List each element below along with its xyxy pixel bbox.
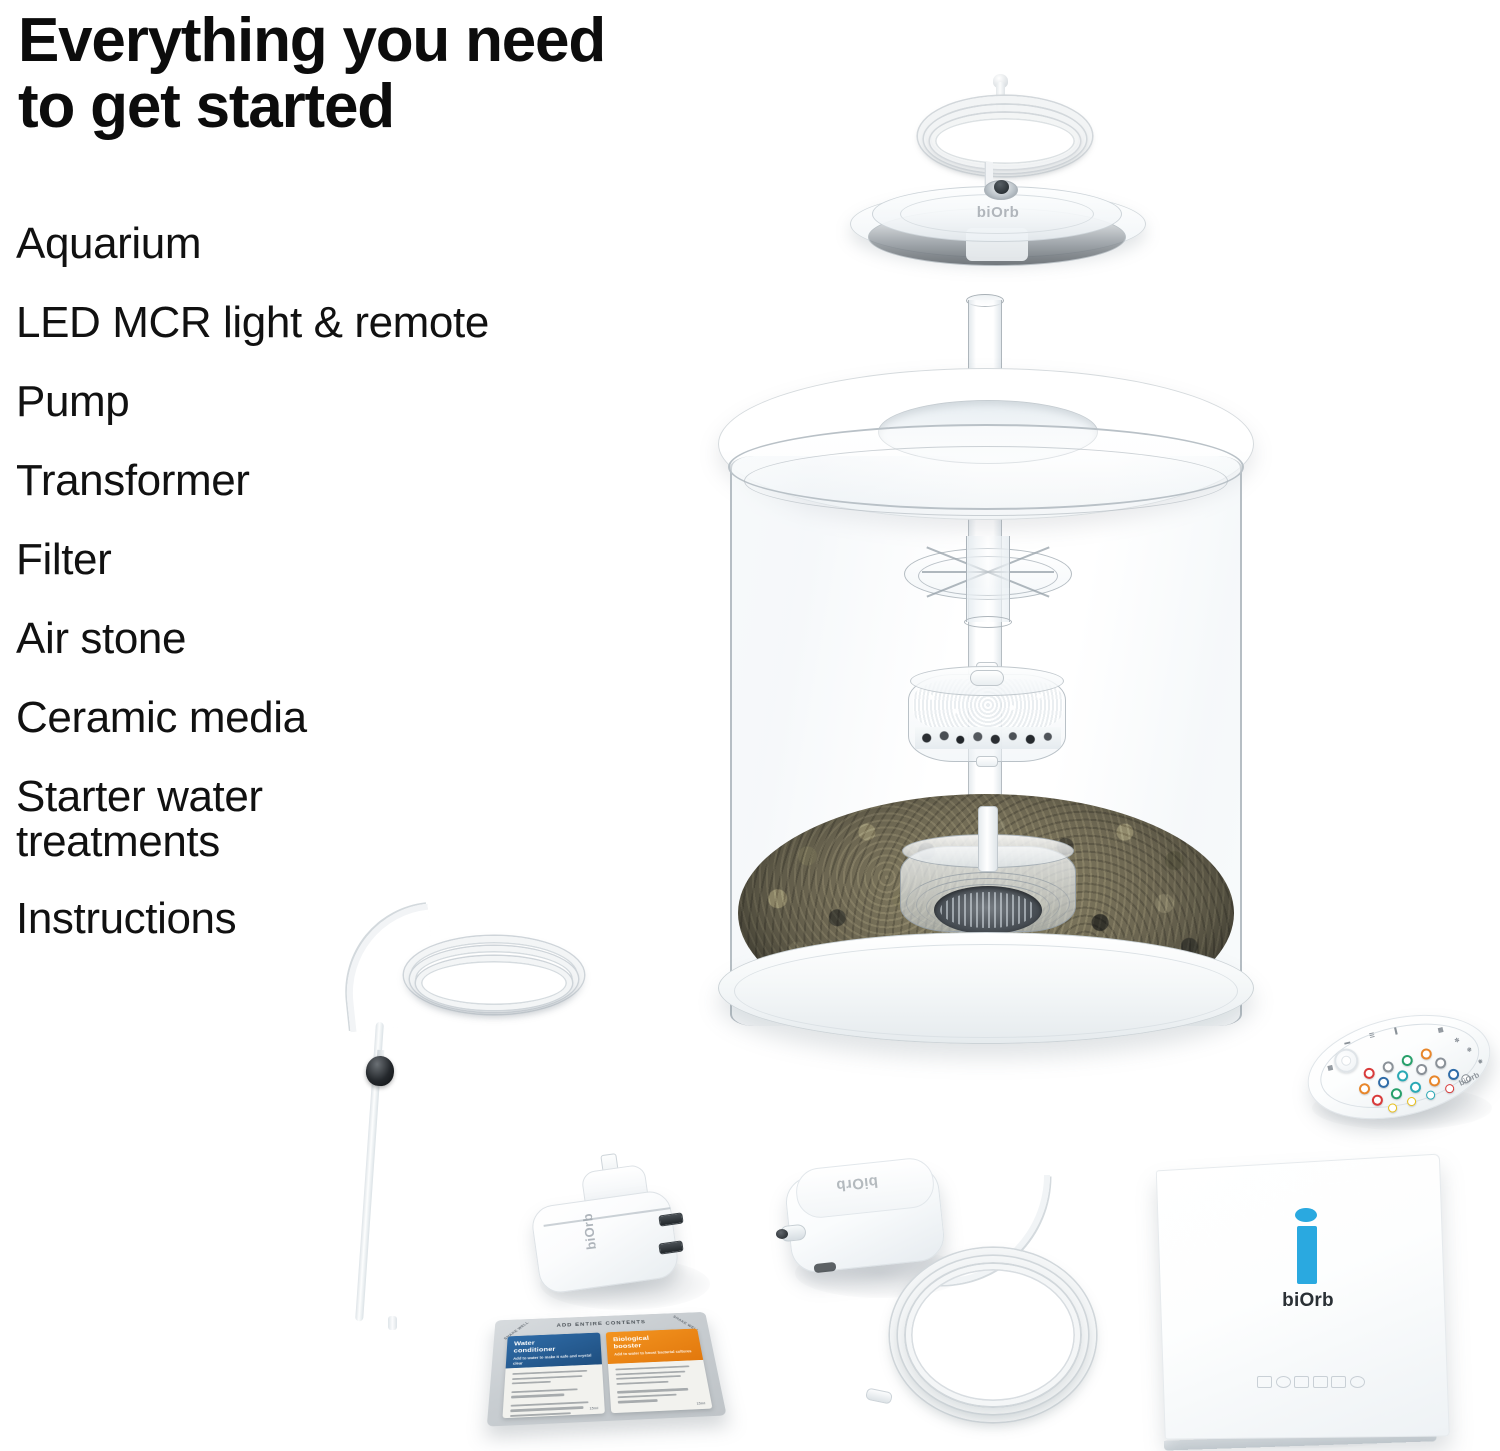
diffuser-stem-end: [964, 616, 1012, 628]
text-line: [616, 1381, 668, 1385]
cable-end: [865, 1387, 893, 1404]
booklet-icon: [1331, 1376, 1346, 1388]
check-valve: [365, 1055, 395, 1087]
power-cable-coil: [880, 1238, 1110, 1438]
sachet-title: Water conditioner: [513, 1337, 594, 1354]
sachet-top: Water conditioner Add to water to make i…: [506, 1333, 602, 1369]
sachet-subtitle: Add to water to boost bacterial cultures: [614, 1349, 695, 1357]
brand-logo: biOrb: [946, 204, 1050, 221]
page-title: Everything you need to get started: [18, 8, 898, 139]
filter-knob: [970, 670, 1004, 686]
booklet-icon: [1313, 1376, 1328, 1388]
list-item: Air stone: [16, 617, 716, 661]
sachet-water-conditioner: Water conditioner Add to water to make i…: [502, 1333, 604, 1419]
sachet-volume: 15ml: [590, 1406, 599, 1410]
led-light-assembly: biOrb: [846, 96, 1156, 276]
text-line: [512, 1370, 587, 1375]
sachet-subtitle: Add to water to make it safe and crystal…: [513, 1353, 595, 1366]
list-item: Transformer: [16, 459, 716, 503]
plug-pin: [658, 1240, 683, 1254]
power-icon[interactable]: ⏻: [1324, 1042, 1330, 1050]
plug-pin: [658, 1212, 683, 1226]
list-item: Starter water treatments: [16, 775, 716, 865]
pump-foot: [814, 1262, 837, 1273]
text-line: [511, 1394, 564, 1398]
remote-control: ⏻ ▬ ☰ ▌ ▦ ▌ ▦ ✻ ❄ ✵: [1300, 1008, 1500, 1136]
text-line: [617, 1394, 677, 1399]
aquarium-tank: [700, 296, 1270, 1056]
star-icon[interactable]: ✵: [1477, 1058, 1483, 1066]
filter-tab: [976, 756, 998, 767]
text-line: [510, 1407, 583, 1412]
diffuser-collar: [966, 536, 1010, 588]
sachet-top: Biological booster Add to water to boost…: [606, 1329, 703, 1364]
list-item: Ceramic media: [16, 696, 716, 740]
filter-cartridge: [908, 664, 1066, 774]
transformer-plug: biOrb: [525, 1150, 705, 1300]
sachet-volume: 15ml: [696, 1401, 705, 1405]
airline-coil: [416, 956, 572, 1010]
ceramic-media: [915, 727, 1061, 749]
grid-icon[interactable]: ▦: [1437, 1026, 1444, 1034]
text-line: [615, 1365, 689, 1370]
mode-icon[interactable]: ▦: [1327, 1064, 1334, 1072]
plug-body: [530, 1189, 681, 1296]
sachet-biological-booster: Biological booster Add to water to boost…: [606, 1329, 713, 1414]
product-scene: Everything you need to get started Aquar…: [0, 0, 1500, 1450]
text-line: [616, 1375, 681, 1380]
list-item: Filter: [16, 538, 716, 582]
info-icon-dot: [1295, 1208, 1317, 1222]
tank-base-lip: [734, 944, 1238, 1038]
booklet-icon: [1350, 1376, 1365, 1388]
language-icon-strip: [1257, 1376, 1365, 1388]
booklet-icon: [1276, 1376, 1291, 1388]
cable-coil: [930, 113, 1080, 169]
pump-base-assembly: [900, 828, 1076, 946]
instruction-booklet: biOrb: [1155, 1162, 1455, 1450]
list-item: Pump: [16, 380, 716, 424]
text-line: [512, 1375, 582, 1380]
tank-rim-inner: [744, 446, 1228, 516]
cable-loop: [906, 1264, 1080, 1406]
air-stone-tip: [388, 1316, 397, 1330]
brand-logo: biOrb: [1263, 1290, 1353, 1312]
diffuser-assembly: [904, 534, 1072, 610]
booklet-icon: [1257, 1376, 1272, 1388]
pump-grille: [934, 886, 1042, 934]
list-item: Aquarium: [16, 222, 716, 266]
pump-riser: [978, 806, 998, 872]
text-line: [512, 1381, 551, 1385]
list-item: LED MCR light & remote: [16, 301, 716, 345]
sachet-title: Biological booster: [613, 1333, 694, 1350]
info-icon-stem: [1297, 1226, 1317, 1284]
sachet-card: ADD ENTIRE CONTENTS SHAKE WELL SHAKE WEL…: [487, 1312, 727, 1427]
light-hub-dot: [994, 180, 1009, 194]
remote-body: ⏻ ▬ ☰ ▌ ▦ ▌ ▦ ✻ ❄ ✵: [1297, 998, 1500, 1135]
pump-nozzle-tip: [776, 1229, 788, 1239]
text-line: [510, 1412, 571, 1417]
booklet-icon: [1294, 1376, 1309, 1388]
feature-list: Aquarium LED MCR light & remote Pump Tra…: [16, 222, 716, 976]
text-line: [618, 1400, 658, 1404]
water-treatment-pack: ADD ENTIRE CONTENTS SHAKE WELL SHAKE WEL…: [492, 1302, 716, 1450]
